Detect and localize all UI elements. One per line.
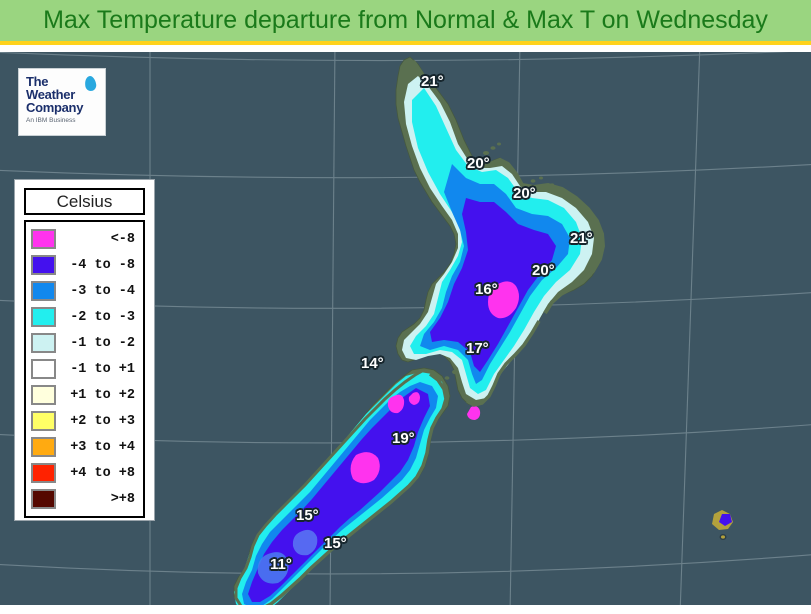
legend-row: >+8 <box>31 486 138 512</box>
legend-row: -3 to -4 <box>31 278 138 304</box>
legend-range-label: -3 to -4 <box>56 284 138 299</box>
legend-row: <-8 <box>31 226 138 252</box>
legend-row: -4 to -8 <box>31 252 138 278</box>
legend-row: +2 to +3 <box>31 408 138 434</box>
legend-row: +1 to +2 <box>31 382 138 408</box>
header-banner: Max Temperature departure from Normal & … <box>0 0 811 41</box>
the-weather-company-logo: The Weather Company An IBM Business <box>18 68 106 136</box>
footer-white-gap <box>0 605 811 614</box>
legend-entries-list: <-8-4 to -8-3 to -4-2 to -3-1 to -2-1 to… <box>24 220 145 518</box>
legend-range-label: -1 to +1 <box>56 362 138 377</box>
legend-color-swatch <box>31 463 56 483</box>
legend-color-swatch <box>31 333 56 353</box>
legend-range-label: >+8 <box>56 492 138 507</box>
header-white-gap <box>0 45 811 52</box>
legend-range-label: -4 to -8 <box>56 258 138 273</box>
legend-color-swatch <box>31 281 56 301</box>
legend-range-label: +1 to +2 <box>56 388 138 403</box>
legend-color-swatch <box>31 359 56 379</box>
legend-color-swatch <box>31 411 56 431</box>
legend-row: +4 to +8 <box>31 460 138 486</box>
temperature-legend-panel: Celsius <-8-4 to -8-3 to -4-2 to -3-1 to… <box>14 179 155 521</box>
legend-row: -1 to -2 <box>31 330 138 356</box>
legend-color-swatch <box>31 307 56 327</box>
page-title: Max Temperature departure from Normal & … <box>43 6 768 35</box>
legend-color-swatch <box>31 229 56 249</box>
logo-tagline: An IBM Business <box>26 117 98 124</box>
legend-row: +3 to +4 <box>31 434 138 460</box>
weather-map-page: Max Temperature departure from Normal & … <box>0 0 811 614</box>
legend-range-label: +3 to +4 <box>56 440 138 455</box>
legend-color-swatch <box>31 255 56 275</box>
legend-range-label: -1 to -2 <box>56 336 138 351</box>
legend-range-label: +4 to +8 <box>56 466 138 481</box>
legend-row: -2 to -3 <box>31 304 138 330</box>
legend-row: -1 to +1 <box>31 356 138 382</box>
legend-color-swatch <box>31 437 56 457</box>
legend-color-swatch <box>31 385 56 405</box>
legend-range-label: <-8 <box>56 232 138 247</box>
logo-line-company: Company <box>26 101 98 114</box>
legend-range-label: -2 to -3 <box>56 310 138 325</box>
legend-title-box: Celsius <box>24 188 145 215</box>
legend-range-label: +2 to +3 <box>56 414 138 429</box>
legend-title: Celsius <box>57 192 113 212</box>
legend-color-swatch <box>31 489 56 509</box>
